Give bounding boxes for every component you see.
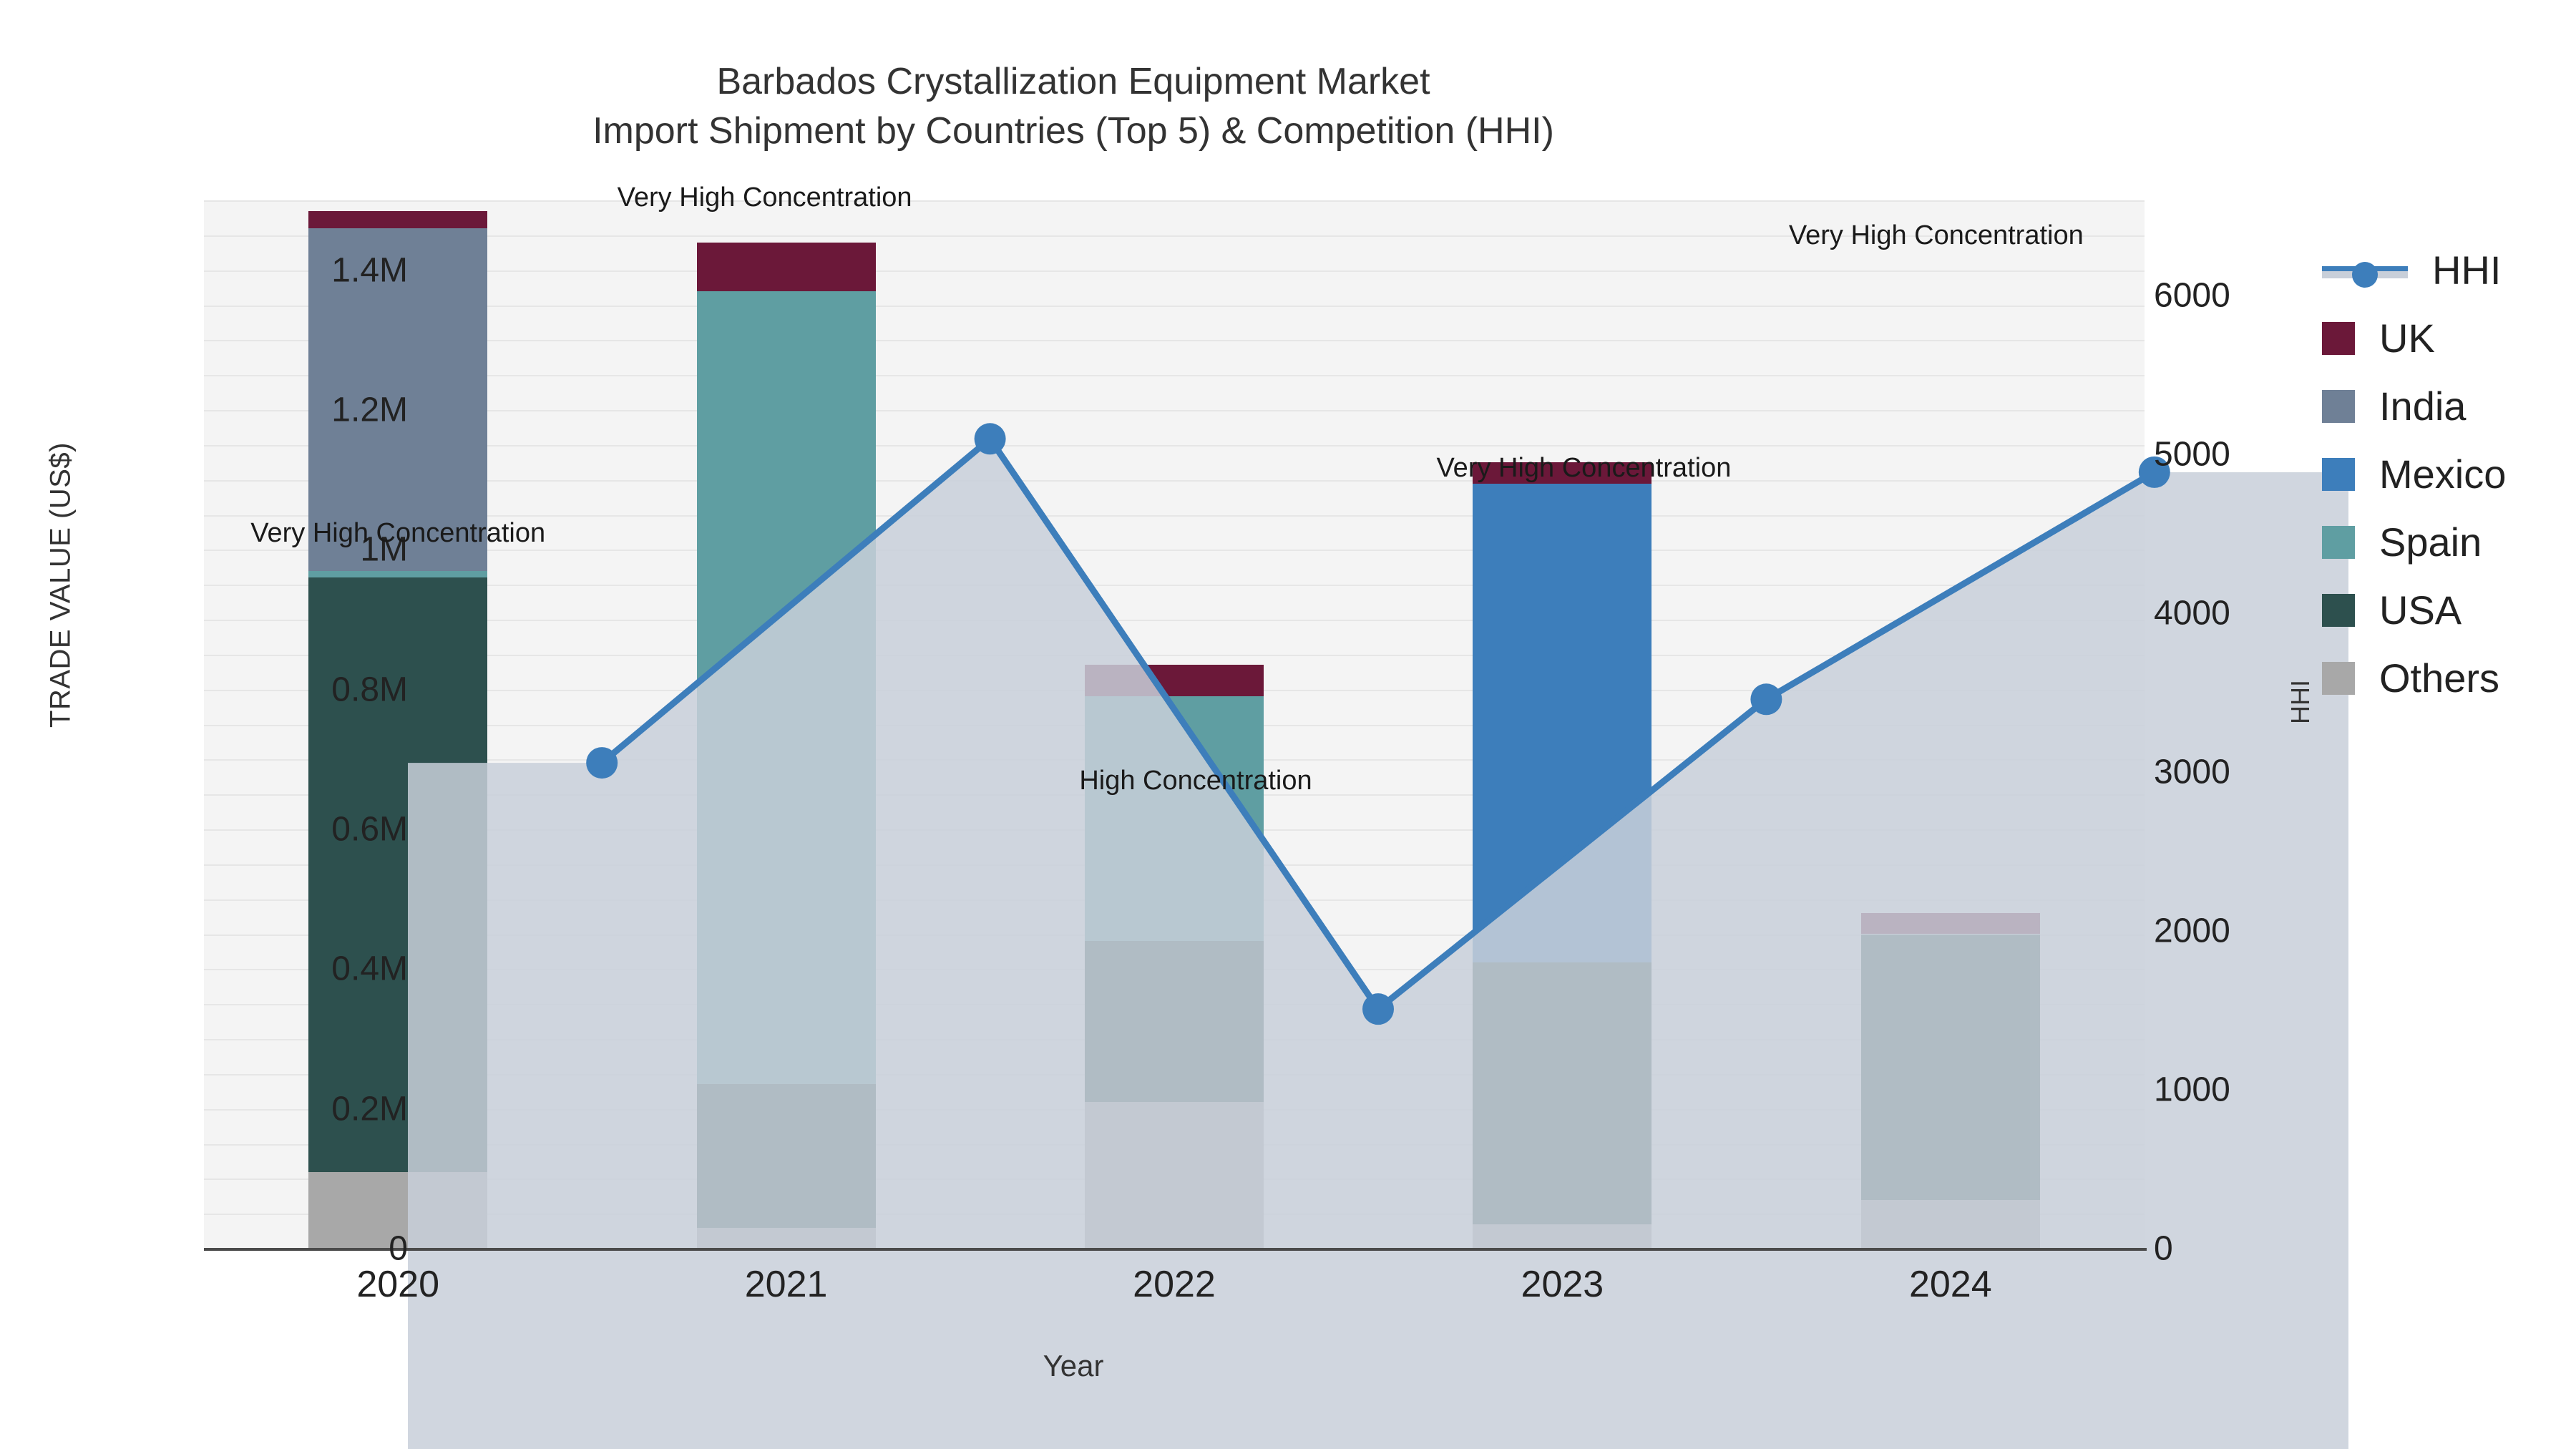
bar-segment-usa[interactable] [697,1084,876,1227]
gridline [204,410,2145,411]
legend-line-icon [2322,254,2408,287]
x-axis-tick-label: 2023 [1455,1263,1669,1306]
legend-color-swatch [2322,458,2355,491]
concentration-annotation: Very High Concentration [1436,453,1731,484]
y-axis-tick-label: 0.2M [193,1089,408,1128]
concentration-annotation: Very High Concentration [1789,220,2084,251]
legend-item-spain[interactable]: Spain [2322,508,2506,576]
bar-segment-uk[interactable] [1861,913,2040,934]
gridline [204,375,2145,376]
legend-color-swatch [2322,322,2355,355]
page-title: Barbados Crystallization Equipment Marke… [0,57,2147,107]
legend-item-label: UK [2379,315,2435,361]
bar-segment-others[interactable] [1861,1200,2040,1249]
legend-item-label: USA [2379,587,2462,633]
legend-color-swatch [2322,526,2355,559]
gridline [204,445,2145,447]
x-axis-tick-label: 2022 [1067,1263,1282,1306]
chart-root: Barbados Crystallization Equipment Marke… [0,0,2576,1449]
bar-segment-usa[interactable] [308,577,487,1171]
plot-area [204,200,2145,1249]
x-axis-label: Year [0,1349,2147,1383]
gridline [204,620,2145,621]
bar-segment-spain[interactable] [308,571,487,578]
bar-segment-uk[interactable] [1085,665,1264,696]
chart-title-block: Barbados Crystallization Equipment Marke… [0,57,2147,155]
y-axis-tick-label: 0.4M [193,950,408,989]
gridline [204,515,2145,517]
gridline [204,655,2145,656]
y-axis-tick-label: 0.8M [193,670,408,709]
bar-segment-others[interactable] [697,1228,876,1249]
bar-segment-usa[interactable] [1473,962,1652,1224]
concentration-annotation: Very High Concentration [618,182,912,213]
legend-item-others[interactable]: Others [2322,644,2506,712]
legend-item-uk[interactable]: UK [2322,304,2506,372]
concentration-annotation: High Concentration [1079,766,1312,796]
bar-segment-spain[interactable] [1085,696,1264,941]
y-axis-label: TRADE VALUE (US$) [45,392,77,779]
gridline [204,200,2145,202]
bar-segment-spain[interactable] [697,291,876,1085]
legend-item-label: HHI [2432,247,2501,293]
bar-segment-uk[interactable] [308,211,487,228]
y-axis-tick-label-secondary: 1000 [2154,1070,2368,1110]
legend-item-label: India [2379,383,2466,429]
legend-item-mexico[interactable]: Mexico [2322,440,2506,508]
legend-line-marker [2352,262,2378,288]
y-axis-tick-label-secondary: 0 [2154,1229,2368,1269]
legend-color-swatch [2322,390,2355,423]
x-axis-tick-label: 2021 [679,1263,894,1306]
bar-segment-usa[interactable] [1861,935,2040,1200]
legend-item-label: Mexico [2379,451,2506,497]
gridline [204,480,2145,482]
legend-item-label: Spain [2379,519,2482,565]
legend-item-usa[interactable]: USA [2322,576,2506,644]
gridline [204,306,2145,307]
legend-item-hhi[interactable]: HHI [2322,236,2506,304]
y-axis-tick-label: 0.6M [193,810,408,849]
legend-color-swatch [2322,662,2355,695]
x-axis-tick-label: 2024 [1843,1263,2058,1306]
concentration-annotation: Very High Concentration [250,518,545,549]
bar-segment-others[interactable] [1085,1102,1264,1249]
legend-color-swatch [2322,594,2355,627]
y-axis-tick-label-secondary: 2000 [2154,912,2368,951]
legend-item-label: Others [2379,655,2499,701]
bar-segment-mexico[interactable] [1473,484,1652,962]
y-axis-label-secondary: HHI [2285,630,2316,774]
x-axis-line [204,1248,2147,1251]
legend: HHIUKIndiaMexicoSpainUSAOthers [2322,236,2506,712]
chart-subtitle: Import Shipment by Countries (Top 5) & C… [0,107,2147,156]
legend-item-india[interactable]: India [2322,372,2506,440]
gridline [204,585,2145,586]
y-axis-tick-label: 1.4M [193,250,408,290]
bar-segment-others[interactable] [1473,1224,1652,1249]
y-axis-tick-label: 1.2M [193,391,408,430]
x-axis-tick-label: 2020 [291,1263,505,1306]
bar-segment-usa[interactable] [1085,941,1264,1102]
gridline [204,550,2145,551]
y-axis-tick-label-secondary: 3000 [2154,753,2368,792]
bar-segment-uk[interactable] [697,243,876,291]
gridline [204,270,2145,272]
gridline [204,340,2145,341]
